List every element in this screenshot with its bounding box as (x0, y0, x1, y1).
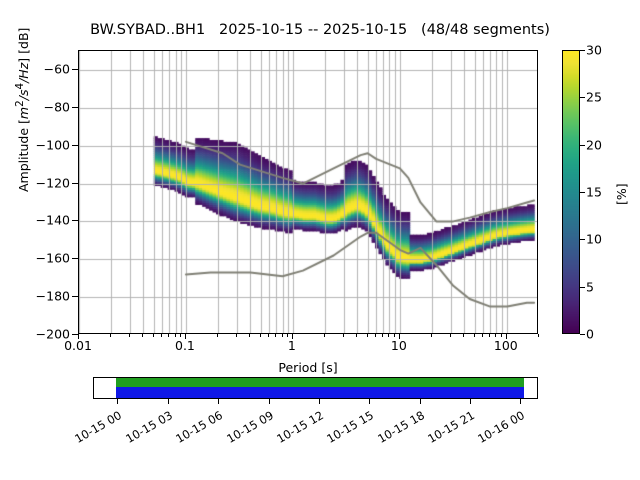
x-minor-tick-mark (394, 334, 395, 337)
y-tick-mark (72, 69, 78, 70)
y-tick-mark (72, 107, 78, 108)
x-minor-tick-mark (375, 334, 376, 337)
x-tick-label: 100 (494, 338, 518, 353)
colorbar-tick-mark (580, 145, 585, 146)
y-tick-label: −180 (0, 289, 70, 304)
ppsd-plot-area[interactable] (78, 50, 538, 334)
y-tick-mark (72, 183, 78, 184)
timeline-tick-mark (420, 399, 421, 404)
x-minor-tick-mark (282, 334, 283, 337)
timeline-tick-mark (520, 399, 521, 404)
x-minor-tick-mark (268, 334, 269, 337)
x-minor-tick-mark (161, 334, 162, 337)
colorbar-tick-label: 5 (586, 279, 594, 294)
colorbar-gradient (563, 51, 579, 333)
x-minor-tick-mark (343, 334, 344, 337)
x-tick-mark (185, 334, 186, 339)
x-minor-tick-mark (168, 334, 169, 337)
timeline-tick-mark (369, 399, 370, 404)
coverage-timeline[interactable] (93, 377, 538, 399)
ppsd-density-canvas (79, 51, 538, 334)
timeline-tick-label: 10-15 09 (215, 408, 276, 451)
x-minor-tick-mark (153, 334, 154, 337)
x-minor-tick-mark (249, 334, 250, 337)
x-minor-tick-mark (324, 334, 325, 337)
timeline-tick-label: 10-15 12 (265, 408, 326, 451)
colorbar-tick-label: 30 (586, 43, 602, 58)
timeline-tick-label: 10-15 06 (165, 408, 226, 451)
timeline-tick-label: 10-15 18 (366, 408, 427, 451)
figure-title: BW.SYBAD..BH1 2025-10-15 -- 2025-10-15 (… (0, 22, 640, 38)
x-minor-tick-mark (275, 334, 276, 337)
y-tick-label: −60 (0, 61, 70, 76)
colorbar (562, 50, 580, 334)
x-minor-tick-mark (260, 334, 261, 337)
colorbar-tick-label: 15 (586, 185, 602, 200)
y-tick-label: −160 (0, 251, 70, 266)
x-minor-tick-mark (236, 334, 237, 337)
x-minor-tick-mark (489, 334, 490, 337)
x-minor-tick-mark (367, 334, 368, 337)
y-tick-label: −100 (0, 137, 70, 152)
colorbar-tick-label: 10 (586, 232, 602, 247)
x-tick-mark (506, 334, 507, 339)
timeline-tick-mark (319, 399, 320, 404)
timeline-tick-label: 10-16 00 (466, 408, 527, 451)
x-axis-label: Period [s] (78, 360, 538, 375)
timeline-tick-mark (218, 399, 219, 404)
timeline-tick-label: 10-15 15 (316, 408, 377, 451)
x-minor-tick-mark (356, 334, 357, 337)
colorbar-tick-label: 20 (586, 137, 602, 152)
y-tick-mark (72, 220, 78, 221)
x-minor-tick-mark (431, 334, 432, 337)
x-minor-tick-mark (110, 334, 111, 337)
x-minor-tick-mark (175, 334, 176, 337)
colorbar-tick-mark (580, 239, 585, 240)
x-tick-label: 0.1 (175, 338, 195, 353)
x-minor-tick-mark (450, 334, 451, 337)
x-tick-mark (78, 334, 79, 339)
timeline-tick-mark (269, 399, 270, 404)
x-minor-tick-mark (217, 334, 218, 337)
ppsd-figure: BW.SYBAD..BH1 2025-10-15 -- 2025-10-15 (… (0, 0, 640, 480)
colorbar-tick-mark (580, 97, 585, 98)
colorbar-tick-mark (580, 334, 585, 335)
colorbar-tick-mark (580, 192, 585, 193)
x-tick-label: 10 (391, 338, 407, 353)
x-minor-tick-mark (287, 334, 288, 337)
x-minor-tick-mark (388, 334, 389, 337)
x-minor-tick-mark (474, 334, 475, 337)
x-minor-tick-mark (495, 334, 496, 337)
y-tick-label: −200 (0, 327, 70, 342)
colorbar-tick-label: 0 (586, 327, 594, 342)
timeline-tick-label: 10-15 21 (416, 408, 477, 451)
timeline-segment-green[interactable] (116, 378, 524, 387)
x-minor-tick-mark (501, 334, 502, 337)
colorbar-tick-mark (580, 287, 585, 288)
timeline-tick-label: 10-15 03 (114, 408, 175, 451)
x-tick-mark (399, 334, 400, 339)
y-tick-mark (72, 258, 78, 259)
x-minor-tick-mark (482, 334, 483, 337)
y-tick-mark (72, 296, 78, 297)
y-tick-label: −80 (0, 99, 70, 114)
x-minor-tick-mark (463, 334, 464, 337)
x-minor-tick-mark (142, 334, 143, 337)
timeline-tick-mark (168, 399, 169, 404)
x-tick-mark (292, 334, 293, 339)
colorbar-tick-mark (580, 50, 585, 51)
y-tick-label: −140 (0, 213, 70, 228)
x-minor-tick-mark (538, 334, 539, 337)
timeline-segment-blue[interactable] (116, 387, 524, 398)
x-minor-tick-mark (129, 334, 130, 337)
x-minor-tick-mark (382, 334, 383, 337)
y-tick-mark (72, 145, 78, 146)
timeline-tick-mark (117, 399, 118, 404)
timeline-tick-label: 10-15 00 (64, 408, 125, 451)
x-tick-label: 1 (288, 338, 296, 353)
colorbar-tick-label: 25 (586, 90, 602, 105)
y-tick-label: −120 (0, 175, 70, 190)
timeline-tick-mark (470, 399, 471, 404)
x-minor-tick-mark (180, 334, 181, 337)
colorbar-label: [%] (614, 183, 629, 205)
x-tick-label: 0.01 (64, 338, 92, 353)
